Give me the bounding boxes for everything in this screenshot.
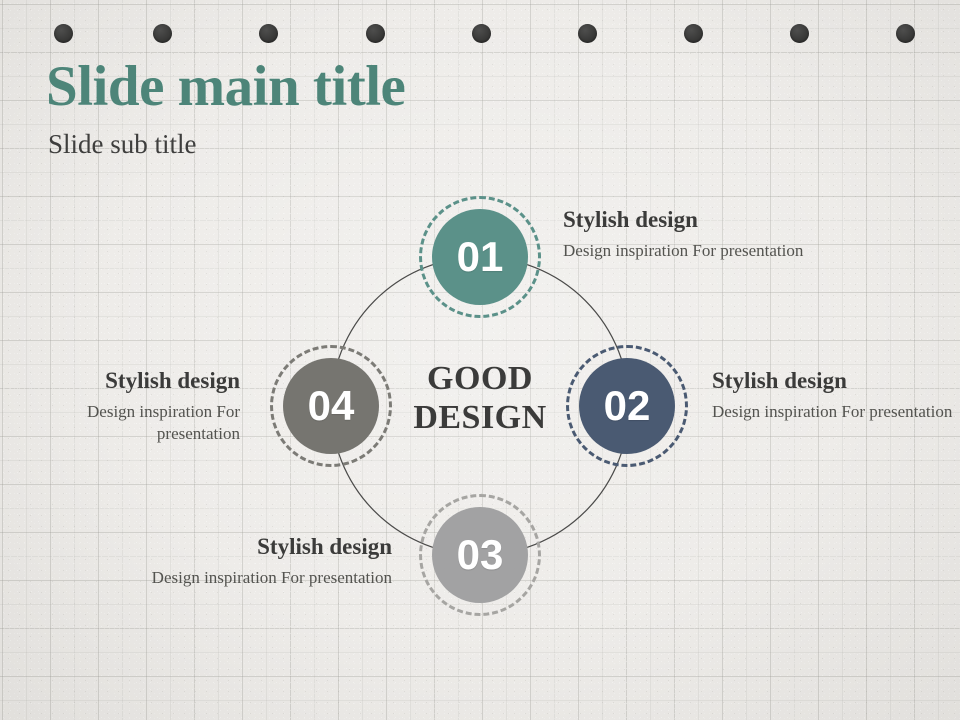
callout-node-03: Stylish design Design inspiration For pr… — [146, 534, 392, 589]
node-number: 04 — [308, 385, 355, 427]
diagram-node-03[interactable]: 03 — [419, 494, 541, 616]
center-label-line-1: GOOD — [365, 359, 595, 398]
diagram-center-label: GOOD DESIGN — [365, 359, 595, 438]
node-number: 01 — [457, 236, 504, 278]
callout-node-02: Stylish design Design inspiration For pr… — [712, 368, 960, 423]
callout-title: Stylish design — [563, 207, 813, 233]
callout-title: Stylish design — [58, 368, 240, 394]
callout-title: Stylish design — [712, 368, 960, 394]
node-number: 03 — [457, 534, 504, 576]
callout-body: Design inspiration For presentation — [563, 240, 813, 262]
callout-node-04: Stylish design Design inspiration For pr… — [58, 368, 240, 445]
cycle-diagram: 01 02 03 04 GOOD DESIGN Stylish d — [0, 0, 960, 720]
callout-body: Design inspiration For presentation — [58, 401, 240, 445]
node-disc: 01 — [432, 209, 528, 305]
node-number: 02 — [604, 385, 651, 427]
center-label-line-2: DESIGN — [365, 398, 595, 437]
callout-body: Design inspiration For presentation — [146, 567, 392, 589]
callout-body: Design inspiration For presentation — [712, 401, 960, 423]
callout-node-01: Stylish design Design inspiration For pr… — [563, 207, 813, 262]
slide-canvas: Slide main title Slide sub title 01 02 0… — [0, 0, 960, 720]
node-disc: 03 — [432, 507, 528, 603]
callout-title: Stylish design — [146, 534, 392, 560]
diagram-node-01[interactable]: 01 — [419, 196, 541, 318]
